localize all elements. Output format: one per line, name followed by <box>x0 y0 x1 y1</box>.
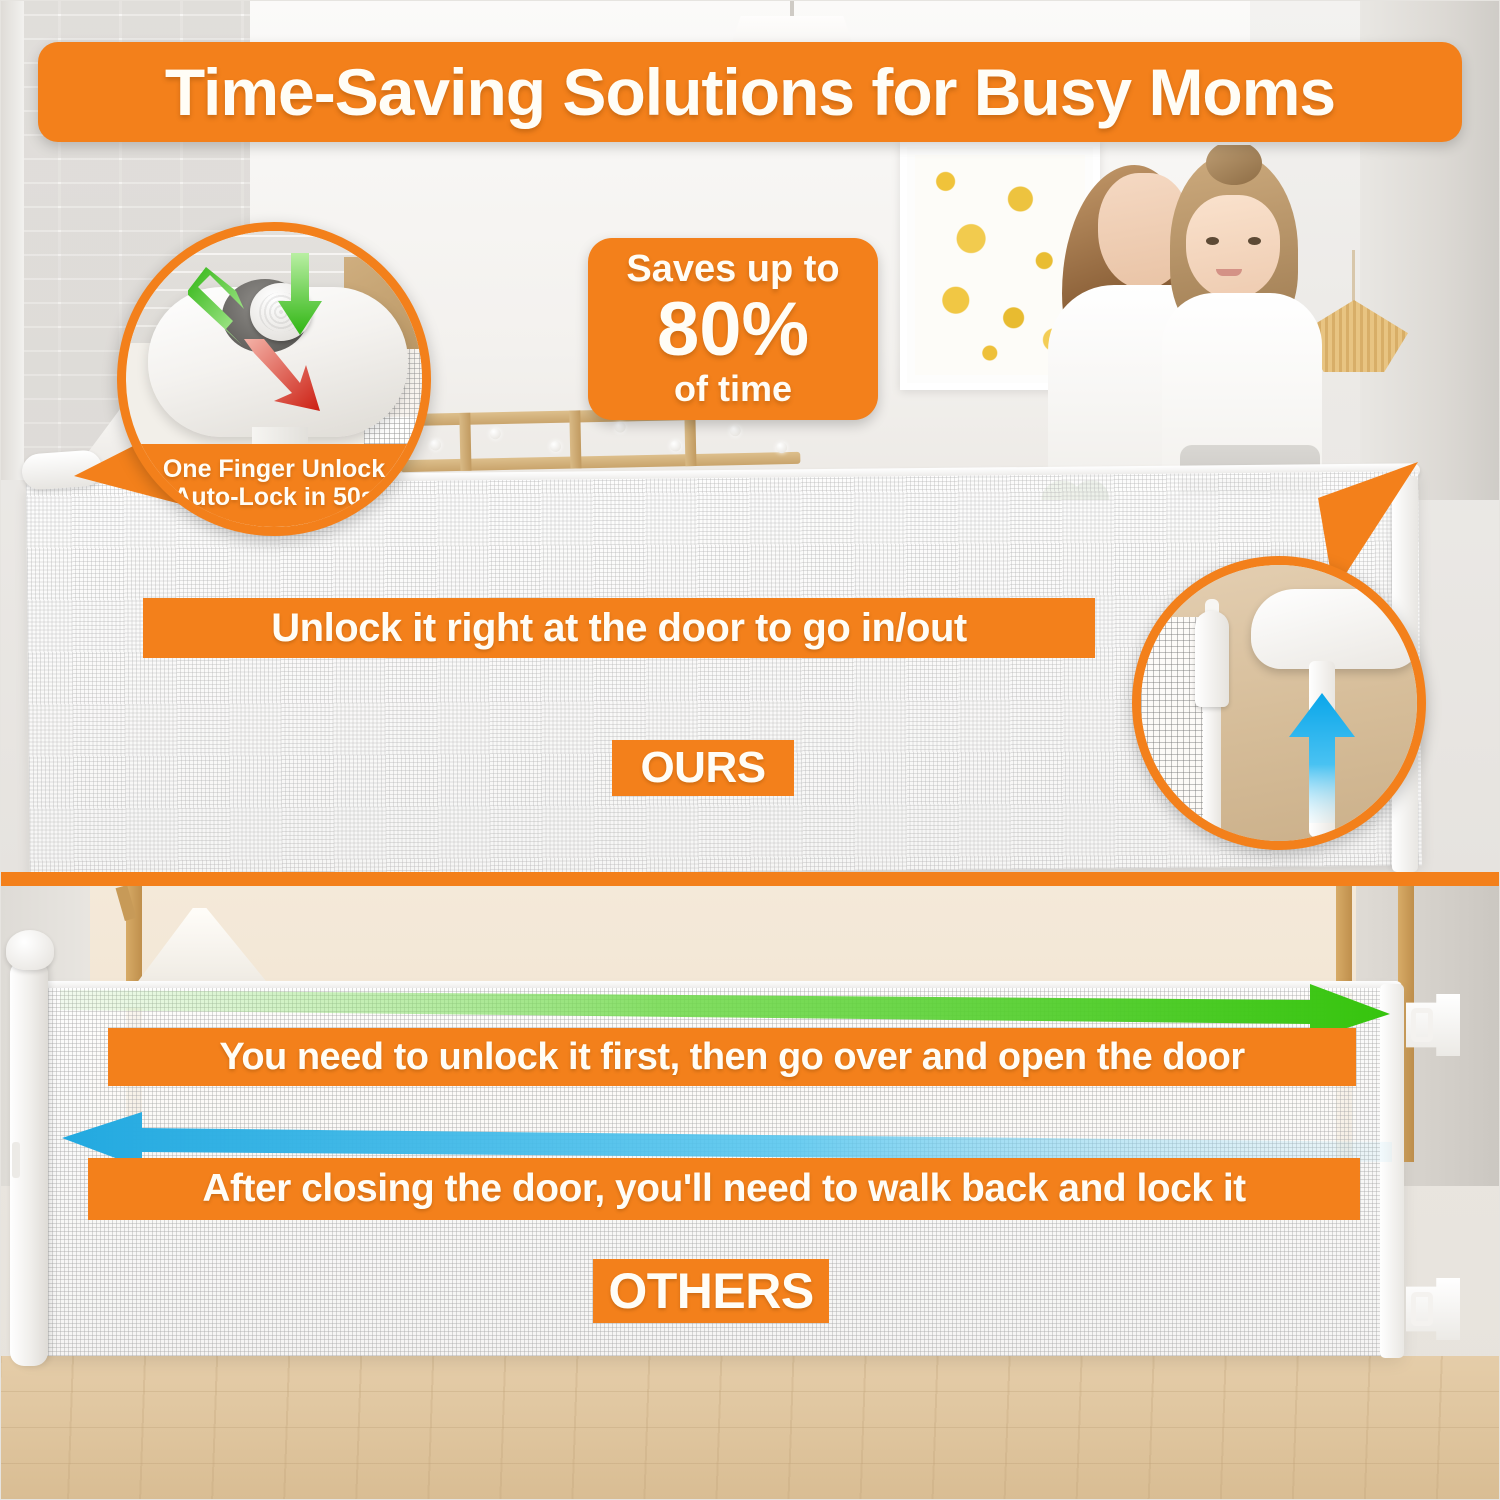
string-light-bulb <box>730 425 741 436</box>
bracket-hole <box>1411 1292 1433 1326</box>
child-face <box>1186 195 1280 299</box>
page-title-banner: Time-Saving Solutions for Busy Moms <box>38 42 1462 142</box>
callout-left-caption-line2: Auto-Lock in 50s <box>130 483 418 511</box>
string-light-bulb <box>430 439 441 450</box>
wall-bracket-bottom <box>1406 1278 1460 1340</box>
green-up-arrow-icon <box>188 267 244 345</box>
gate-bottom-post-right <box>1380 984 1404 1358</box>
red-down-arrow-icon <box>244 339 320 417</box>
child-eye-left <box>1206 237 1219 245</box>
saves-badge: Saves up to 80% of time <box>588 238 878 420</box>
label-ours: OURS <box>612 740 794 796</box>
saves-badge-line1: Saves up to <box>626 250 839 290</box>
benefit-band-ours: Unlock it right at the door to go in/out <box>143 598 1095 658</box>
wood-floor <box>0 1356 1500 1500</box>
string-light-bulb <box>550 441 561 452</box>
label-others: OTHERS <box>593 1259 829 1323</box>
gate-roller-knob <box>6 930 54 970</box>
wall-left-edge <box>0 0 24 480</box>
callout-left-caption-line1: One Finger Unlock <box>130 455 418 483</box>
callout-right-gate-rail <box>1203 691 1221 841</box>
child-eye-right <box>1248 237 1261 245</box>
wall-bracket-top <box>1406 994 1460 1056</box>
latch-pin <box>1195 611 1229 707</box>
string-light-bulb <box>670 440 681 451</box>
ladder-rung <box>569 410 581 468</box>
page-title: Time-Saving Solutions for Busy Moms <box>165 54 1335 130</box>
gate-latch-housing <box>1251 589 1421 669</box>
gate-roller-slot <box>12 1142 20 1178</box>
saves-badge-percent: 80% <box>657 292 809 368</box>
callout-one-finger-unlock: One Finger Unlock Auto-Lock in 50s <box>117 222 431 536</box>
infographic-canvas: Time-Saving Solutions for Busy Moms Save… <box>0 0 1500 1500</box>
callout-gate-latch-zoom <box>1132 556 1426 850</box>
saves-badge-line3: of time <box>674 370 792 408</box>
callout-left-caption: One Finger Unlock Auto-Lock in 50s <box>126 444 422 527</box>
string-light-bulb <box>490 428 501 439</box>
ladder-rung <box>459 413 471 471</box>
green-down-arrow-icon <box>278 253 322 335</box>
section-divider <box>0 872 1500 886</box>
blue-up-arrow-icon <box>1289 693 1355 823</box>
child-mouth <box>1216 269 1242 276</box>
drawback-band-2: After closing the door, you'll need to w… <box>88 1158 1360 1220</box>
bracket-hole <box>1411 1008 1433 1042</box>
string-light-bulb <box>615 421 626 432</box>
drawback-band-1: You need to unlock it first, then go ove… <box>108 1028 1356 1086</box>
